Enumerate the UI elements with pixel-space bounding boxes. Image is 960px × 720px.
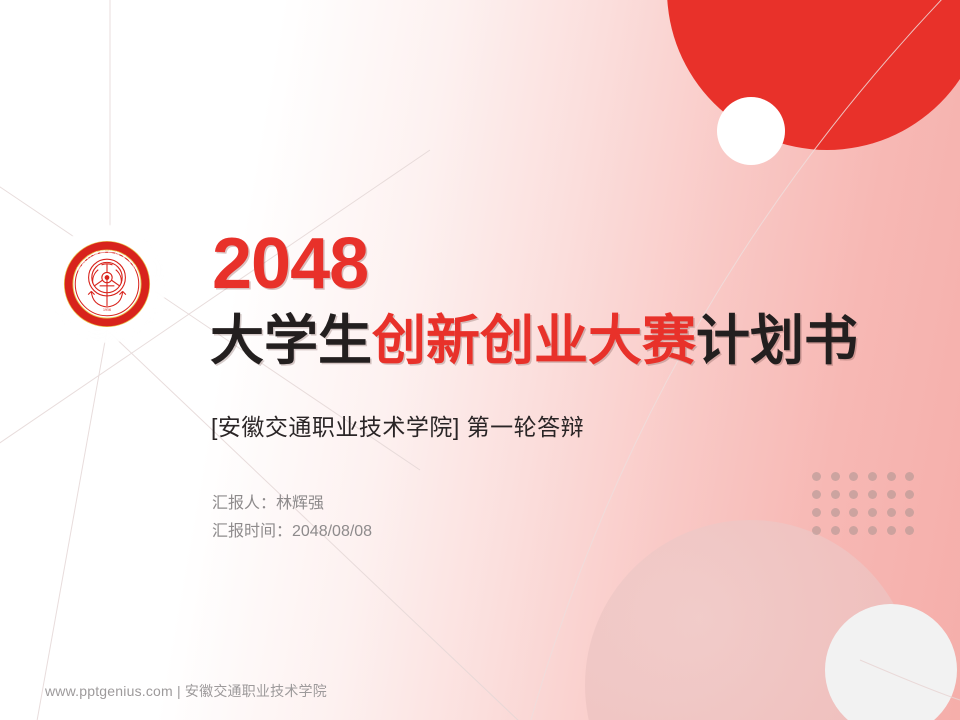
college-emblem-icon: 安徽交通职业技术学院 A H C T C <box>61 238 153 330</box>
subtitle: [安徽交通职业技术学院] 第一轮答辩 <box>211 408 584 442</box>
year-heading: 2048 <box>212 228 368 300</box>
college-logo: 安徽交通职业技术学院 A H C T C <box>48 225 166 343</box>
dot-grid-decoration <box>812 472 924 544</box>
presentation-meta: 汇报人：林辉强 汇报时间：2048/08/08 <box>212 490 372 546</box>
date-line: 汇报时间：2048/08/08 <box>212 518 372 546</box>
presentation-title-slide: 安徽交通职业技术学院 A H C T C <box>0 0 960 720</box>
svg-text:1956: 1956 <box>103 308 111 312</box>
main-title-part-1: 大学生 <box>210 311 372 371</box>
footer-credit: www.pptgenius.com | 安徽交通职业技术学院 <box>45 681 327 701</box>
main-title-part-2: 创新创业大赛 <box>372 311 696 371</box>
presenter-line: 汇报人：林辉强 <box>212 490 372 518</box>
main-title-part-3: 计划书 <box>696 311 858 371</box>
main-title: 大学生创新创业大赛计划书 <box>210 312 858 370</box>
